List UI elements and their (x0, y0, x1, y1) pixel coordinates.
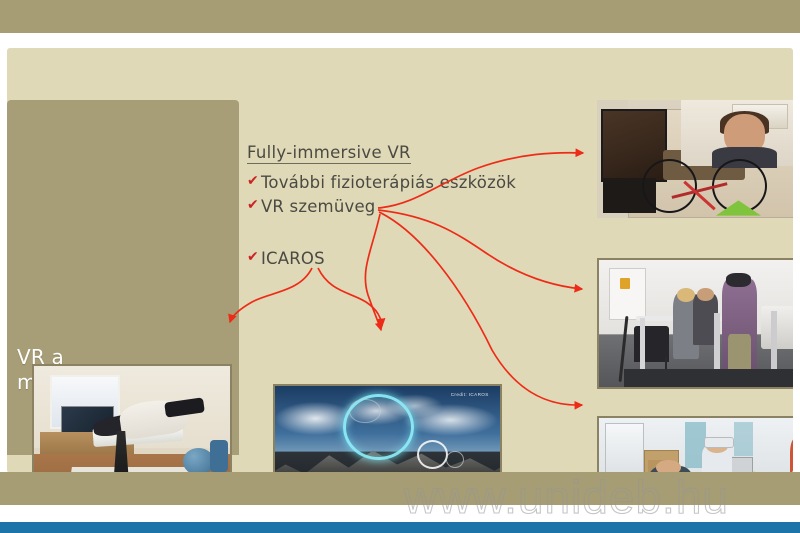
top-olive-band (0, 0, 800, 33)
slide-screenshot: VR a mozgásfejlesztésre Fully-immersive … (0, 0, 800, 533)
photo-scene (599, 260, 793, 387)
video-credit: Credit: ICAROS (451, 392, 489, 397)
list-item-label: ICAROS (261, 247, 325, 270)
presentation-slide: VR a mozgásfejlesztésre Fully-immersive … (7, 48, 793, 473)
list-item: ✔ További fizioterápiás eszközök (247, 171, 547, 194)
check-icon: ✔ (247, 171, 259, 193)
check-icon: ✔ (247, 247, 259, 269)
list-item: ✔ VR szemüveg (247, 195, 547, 218)
list-item-label: További fizioterápiás eszközök (261, 171, 516, 194)
photo-scene (597, 100, 793, 218)
check-icon: ✔ (247, 195, 259, 217)
photo-scene (599, 418, 793, 473)
unideb-watermark: www.unideb.hu (404, 470, 729, 524)
photo-scene (275, 386, 500, 473)
list-item-label: VR szemüveg (261, 195, 376, 218)
photo-scene (34, 366, 230, 473)
bullet-list: Fully-immersive VR ✔ További fizioterápi… (247, 143, 547, 271)
photo-icaros-vr-video[interactable]: Credit: ICAROS GiGADGETS gts.com (273, 384, 502, 473)
bottom-blue-bar (0, 522, 800, 533)
photo-child-vr-therapy (597, 416, 793, 473)
photo-icaros-machine (32, 364, 232, 473)
list-item: ✔ ICAROS (247, 247, 547, 270)
photo-exoskeleton-gait (597, 258, 793, 389)
photo-video-call-bike: Bucsku Márta (597, 100, 793, 218)
section-heading: Fully-immersive VR (247, 143, 411, 164)
